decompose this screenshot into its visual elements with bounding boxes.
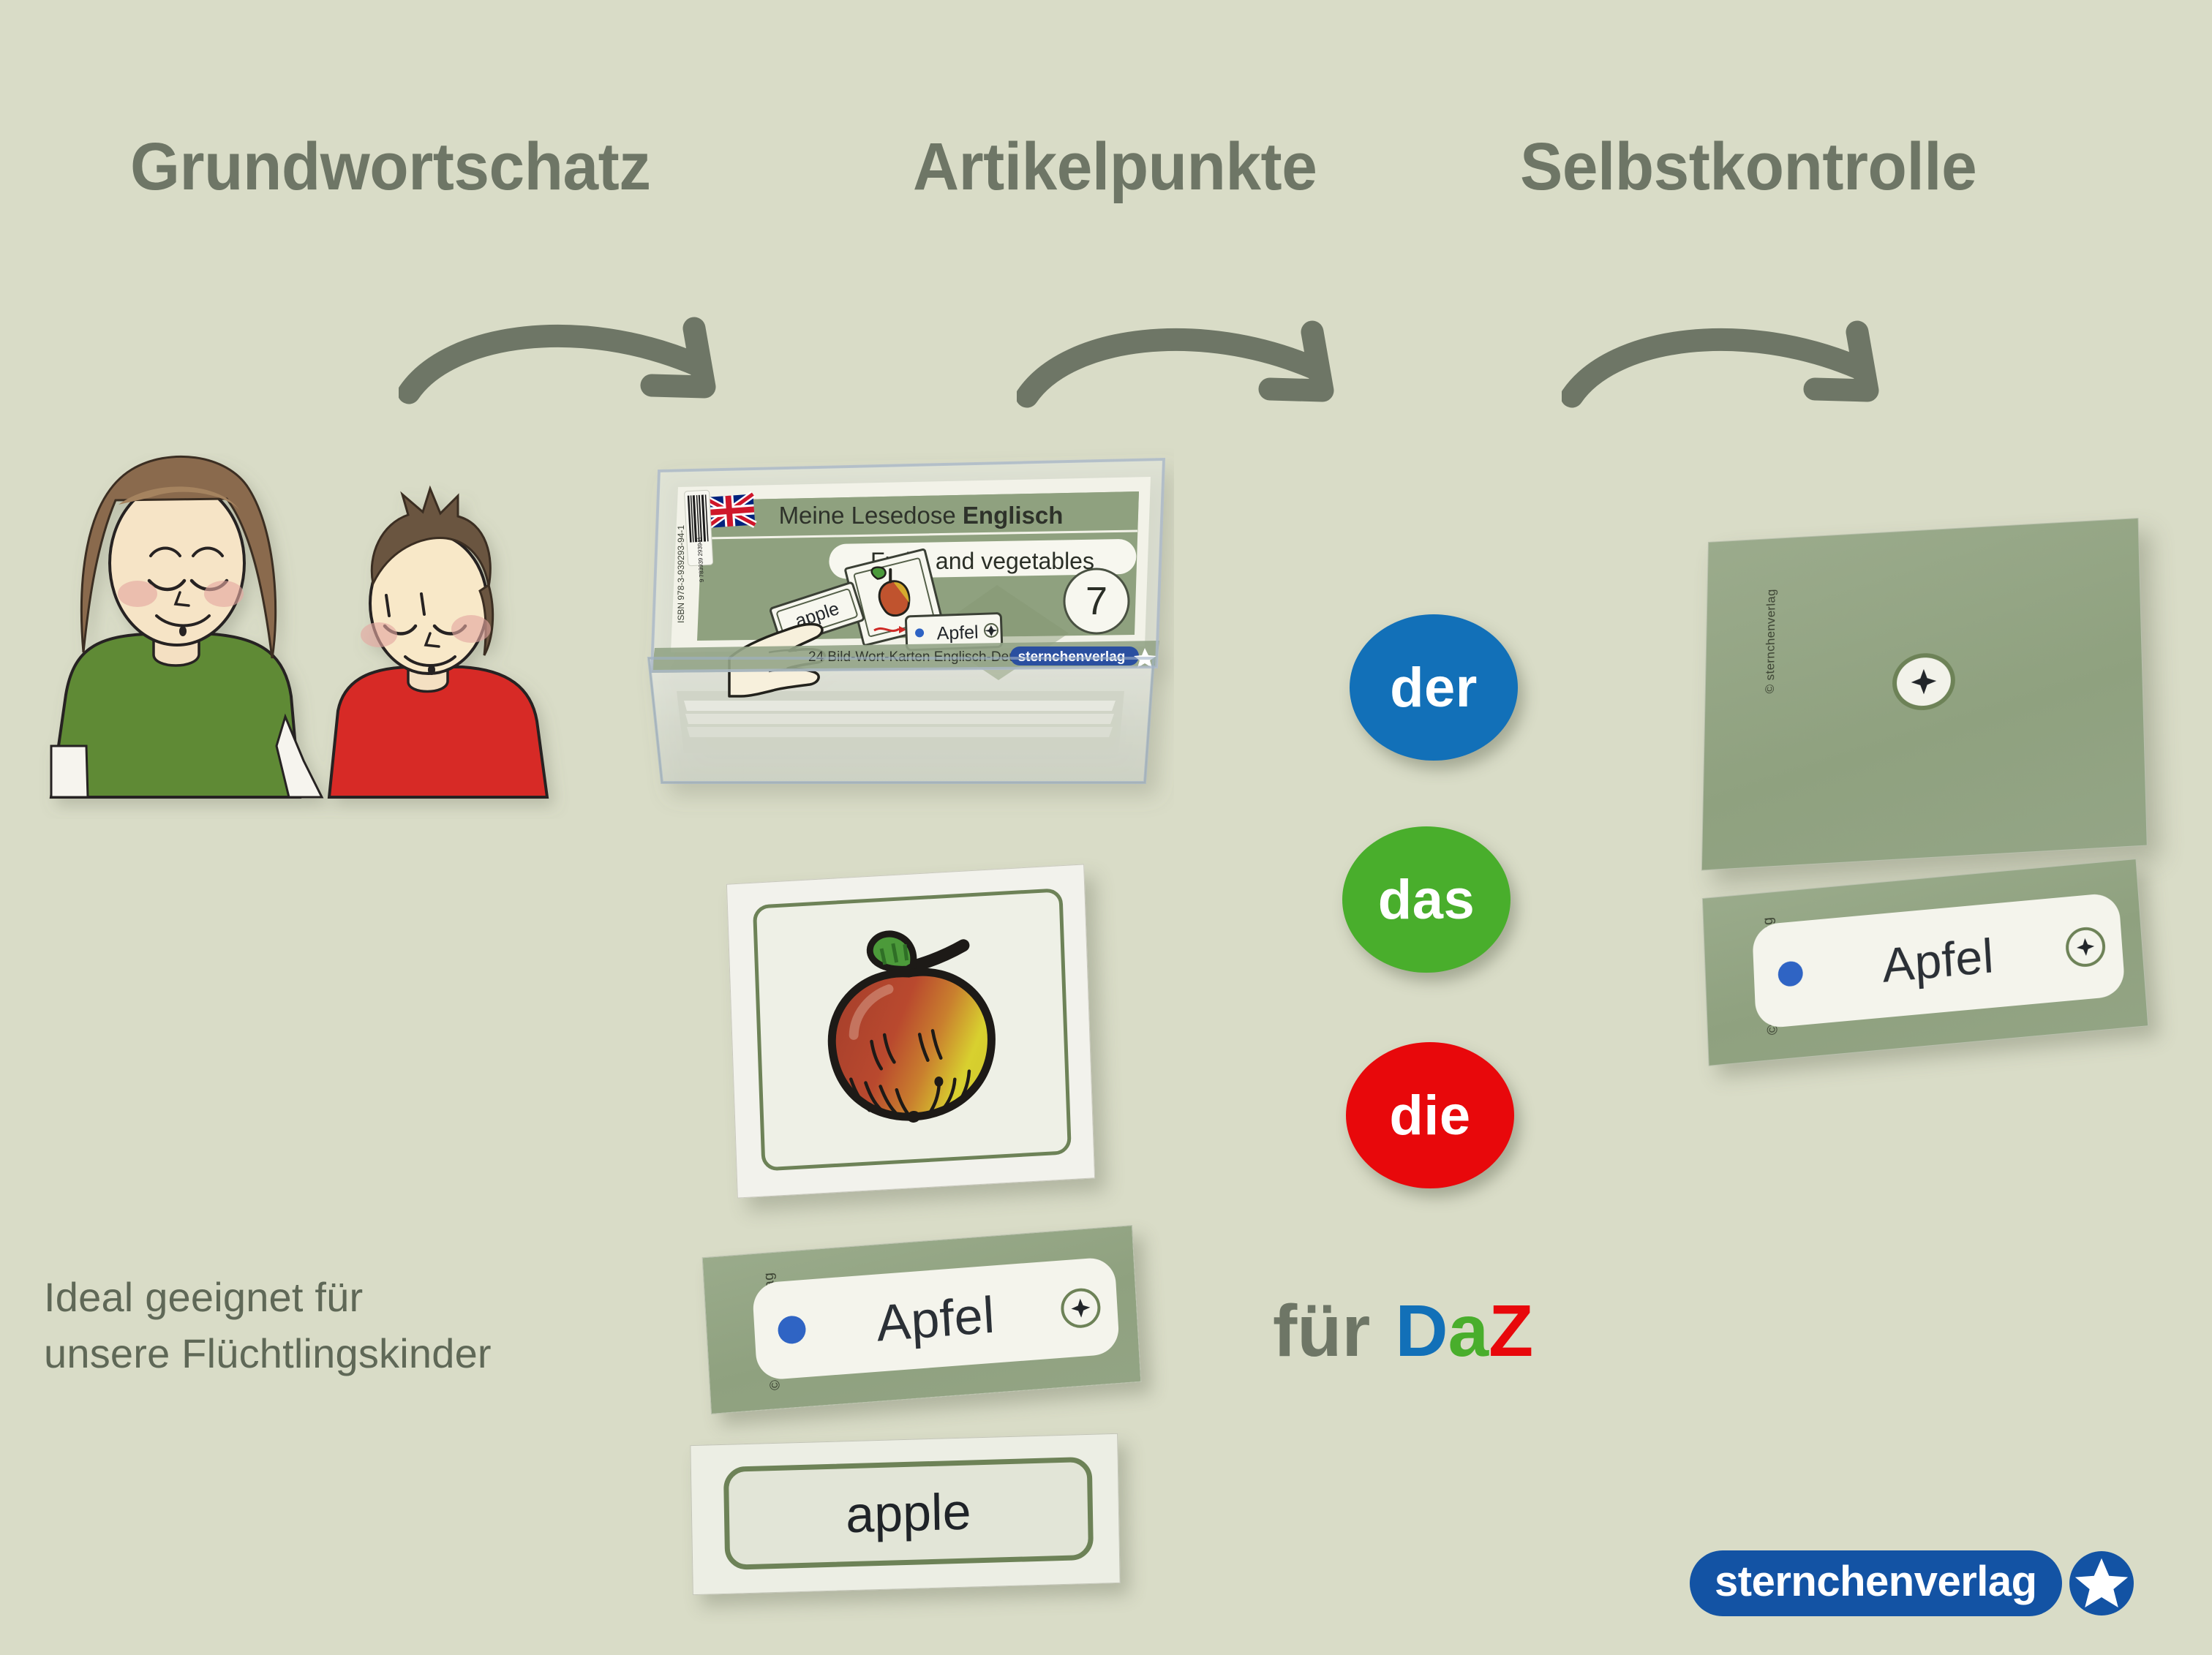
daz-letter-d: D: [1395, 1290, 1448, 1372]
publisher-logo-text: sternchenverlag: [1690, 1550, 2062, 1616]
article-dot-die: die: [1346, 1042, 1514, 1188]
svg-text:Apfel: Apfel: [936, 622, 979, 644]
svg-text:Meine Lesedose Englisch: Meine Lesedose Englisch: [779, 502, 1064, 529]
curved-arrow-icon-3: [1562, 314, 1920, 431]
publisher-star-icon: [2069, 1551, 2134, 1616]
publisher-logo[interactable]: sternchenverlag: [1690, 1550, 2134, 1616]
lesedose-box: Meine Lesedose Englisch Fruits and veget…: [633, 439, 1174, 819]
caption-line-2: unsere Flüchtlingskinder: [44, 1325, 492, 1381]
apple-card-frame: apple: [723, 1457, 1094, 1569]
svg-text:ISBN 978-3-939293-94-1: ISBN 978-3-939293-94-1: [676, 525, 686, 623]
card-back-with-star: © sternchenverlag: [1701, 518, 2148, 871]
children-illustration: [7, 453, 592, 819]
word-text-apfel-left: Apfel: [875, 1289, 996, 1349]
daz-slogan: fürDaZ: [1273, 1294, 1533, 1368]
word-card-apfel-right: © sternchenverlag Apfel: [1702, 859, 2148, 1066]
curved-arrow-icon-2: [1017, 314, 1375, 431]
star-icon-back: [1892, 652, 1955, 712]
word-text-apple: apple: [846, 1482, 972, 1545]
apple-illustration-icon: [797, 919, 1024, 1144]
daz-letter-z: Z: [1489, 1290, 1533, 1372]
heading-selbstkontrolle: Selbstkontrolle: [1520, 133, 1976, 200]
svg-text:7: 7: [1086, 579, 1107, 623]
star-icon-left: [1060, 1286, 1102, 1329]
star-icon-right: [2065, 926, 2107, 969]
heading-grundwortschatz: Grundwortschatz: [130, 133, 651, 200]
curved-arrow-icon-1: [399, 311, 757, 428]
article-dot-das: das: [1342, 826, 1511, 973]
word-plate-left: Apfel: [752, 1257, 1120, 1381]
word-card-apple-english: apple: [690, 1433, 1120, 1595]
copyright-label-back: © sternchenverlag: [1763, 589, 1779, 694]
word-text-apfel-right: Apfel: [1881, 931, 1995, 989]
caption-line-1: Ideal geeignet für: [44, 1269, 492, 1325]
daz-letter-a: a: [1448, 1290, 1489, 1372]
article-dot-der: der: [1350, 614, 1518, 761]
heading-artikelpunkte: Artikelpunkte: [913, 133, 1317, 200]
caption-block: Ideal geeignet für unsere Flüchtlingskin…: [44, 1269, 492, 1382]
apple-picture-card: [726, 864, 1095, 1198]
word-card-apfel-left: © sternchenverlag Apfel: [702, 1225, 1142, 1414]
word-plate-right: Apfel: [1752, 892, 2126, 1029]
article-dot-blue-icon-right: [1777, 960, 1803, 987]
daz-prefix: für: [1273, 1290, 1370, 1372]
article-dot-blue-icon: [777, 1314, 806, 1344]
